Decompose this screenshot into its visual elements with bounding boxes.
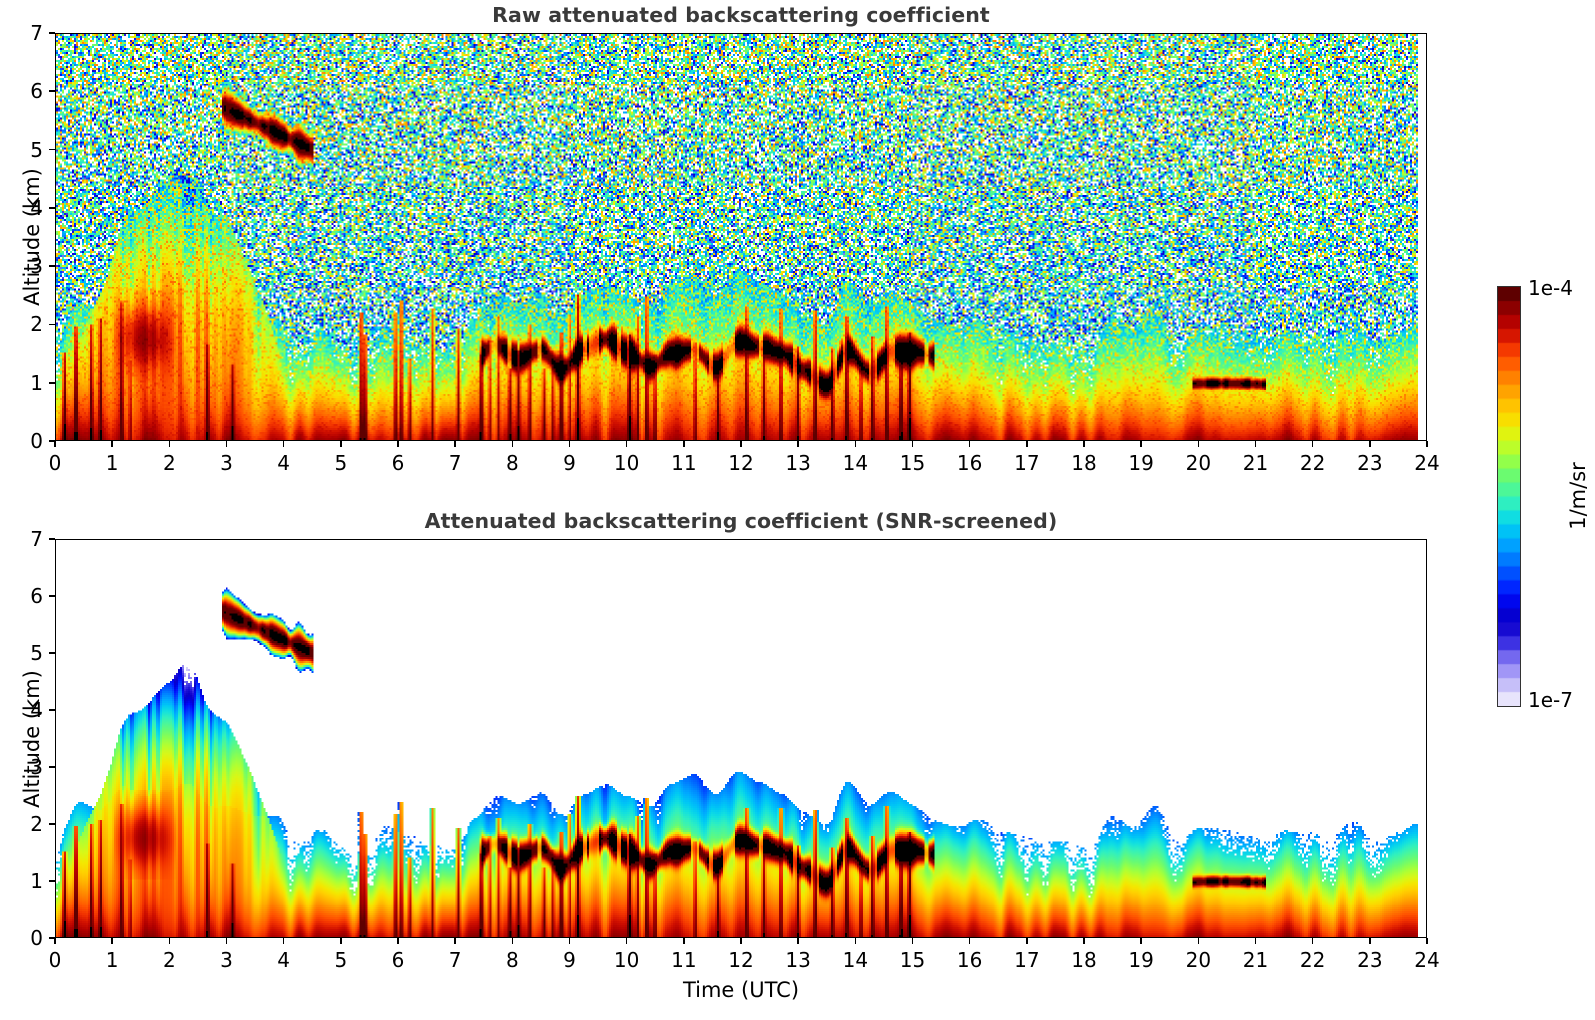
y-tick-raw bbox=[49, 440, 55, 442]
y-tick-label-raw: 7 bbox=[15, 21, 43, 45]
x-tick-raw bbox=[855, 441, 857, 447]
x-tick-label-raw: 10 bbox=[614, 451, 639, 475]
x-tick-raw bbox=[1369, 441, 1371, 447]
x-tick-raw bbox=[797, 441, 799, 447]
x-tick-raw bbox=[340, 441, 342, 447]
x-tick-label-snr: 21 bbox=[1243, 948, 1268, 972]
x-tick-label-raw: 8 bbox=[506, 451, 519, 475]
x-tick-raw bbox=[1140, 441, 1142, 447]
x-tick-label-snr: 24 bbox=[1414, 948, 1439, 972]
y-tick-label-raw: 2 bbox=[15, 312, 43, 336]
x-tick-label-raw: 4 bbox=[277, 451, 290, 475]
panel-title-snr: Attenuated backscattering coefficient (S… bbox=[55, 509, 1427, 533]
x-tick-snr bbox=[226, 938, 228, 944]
x-tick-label-snr: 16 bbox=[957, 948, 982, 972]
x-tick-label-snr: 23 bbox=[1357, 948, 1382, 972]
x-tick-label-raw: 3 bbox=[220, 451, 233, 475]
x-tick-label-snr: 0 bbox=[49, 948, 62, 972]
x-tick-snr bbox=[1312, 938, 1314, 944]
y-tick-label-raw: 1 bbox=[15, 371, 43, 395]
x-tick-label-snr: 18 bbox=[1071, 948, 1096, 972]
x-tick-raw bbox=[912, 441, 914, 447]
x-tick-label-raw: 22 bbox=[1300, 451, 1325, 475]
x-tick-raw bbox=[1083, 441, 1085, 447]
x-tick-snr bbox=[1026, 938, 1028, 944]
x-tick-label-snr: 20 bbox=[1186, 948, 1211, 972]
y-tick-label-raw: 0 bbox=[15, 429, 43, 453]
y-tick-label-snr: 2 bbox=[15, 812, 43, 836]
y-tick-snr bbox=[49, 823, 55, 825]
x-tick-label-snr: 6 bbox=[392, 948, 405, 972]
x-tick-raw bbox=[626, 441, 628, 447]
x-tick-raw bbox=[740, 441, 742, 447]
x-tick-raw bbox=[54, 441, 56, 447]
x-tick-label-raw: 12 bbox=[728, 451, 753, 475]
y-tick-snr bbox=[49, 880, 55, 882]
y-tick-label-raw: 5 bbox=[15, 138, 43, 162]
x-tick-label-snr: 22 bbox=[1300, 948, 1325, 972]
x-tick-label-snr: 3 bbox=[220, 948, 233, 972]
x-tick-snr bbox=[397, 938, 399, 944]
x-tick-snr bbox=[797, 938, 799, 944]
x-tick-snr bbox=[169, 938, 171, 944]
x-tick-snr bbox=[969, 938, 971, 944]
plot-area-raw[interactable] bbox=[55, 33, 1427, 441]
x-tick-raw bbox=[169, 441, 171, 447]
x-tick-label-snr: 4 bbox=[277, 948, 290, 972]
heatmap-snr bbox=[56, 540, 1426, 937]
x-tick-label-raw: 0 bbox=[49, 451, 62, 475]
x-tick-label-raw: 19 bbox=[1128, 451, 1153, 475]
x-tick-label-raw: 7 bbox=[449, 451, 462, 475]
y-tick-raw bbox=[49, 90, 55, 92]
x-tick-raw bbox=[397, 441, 399, 447]
y-tick-snr bbox=[49, 595, 55, 597]
x-tick-snr bbox=[1140, 938, 1142, 944]
x-tick-label-snr: 7 bbox=[449, 948, 462, 972]
x-tick-label-raw: 9 bbox=[563, 451, 576, 475]
x-tick-snr bbox=[912, 938, 914, 944]
x-tick-snr bbox=[1198, 938, 1200, 944]
y-tick-snr bbox=[49, 652, 55, 654]
colorbar[interactable] bbox=[1497, 286, 1521, 707]
x-tick-snr bbox=[512, 938, 514, 944]
y-tick-label-raw: 6 bbox=[15, 79, 43, 103]
x-tick-snr bbox=[1426, 938, 1428, 944]
x-tick-snr bbox=[626, 938, 628, 944]
y-tick-snr bbox=[49, 766, 55, 768]
x-tick-snr bbox=[340, 938, 342, 944]
colorbar-max-label: 1e-4 bbox=[1528, 276, 1573, 300]
y-tick-label-snr: 5 bbox=[15, 641, 43, 665]
y-tick-raw bbox=[49, 265, 55, 267]
colorbar-gradient bbox=[1498, 287, 1520, 706]
y-tick-raw bbox=[49, 207, 55, 209]
y-tick-raw bbox=[49, 32, 55, 34]
figure-canvas: Raw attenuated backscattering coefficien… bbox=[0, 0, 1595, 1020]
x-tick-raw bbox=[512, 441, 514, 447]
colorbar-min-label: 1e-7 bbox=[1528, 688, 1573, 712]
x-tick-raw bbox=[111, 441, 113, 447]
x-tick-raw bbox=[1198, 441, 1200, 447]
y-axis-label-raw: Altitude (km) bbox=[20, 168, 44, 306]
x-tick-label-raw: 24 bbox=[1414, 451, 1439, 475]
x-tick-label-snr: 12 bbox=[728, 948, 753, 972]
x-tick-label-snr: 17 bbox=[1014, 948, 1039, 972]
x-tick-label-snr: 19 bbox=[1128, 948, 1153, 972]
panel-title-raw: Raw attenuated backscattering coefficien… bbox=[55, 3, 1427, 27]
x-tick-snr bbox=[454, 938, 456, 944]
x-tick-label-raw: 1 bbox=[106, 451, 119, 475]
x-tick-label-snr: 13 bbox=[785, 948, 810, 972]
x-tick-label-raw: 18 bbox=[1071, 451, 1096, 475]
x-tick-raw bbox=[454, 441, 456, 447]
x-tick-snr bbox=[283, 938, 285, 944]
x-tick-label-raw: 20 bbox=[1186, 451, 1211, 475]
x-axis-label-snr: Time (UTC) bbox=[683, 978, 799, 1002]
x-tick-label-raw: 14 bbox=[843, 451, 868, 475]
x-tick-label-snr: 5 bbox=[334, 948, 347, 972]
x-tick-snr bbox=[111, 938, 113, 944]
colorbar-unit-label: 1/m/sr bbox=[1566, 462, 1590, 530]
x-tick-label-raw: 15 bbox=[900, 451, 925, 475]
x-tick-snr bbox=[54, 938, 56, 944]
x-tick-label-snr: 14 bbox=[843, 948, 868, 972]
x-tick-raw bbox=[1255, 441, 1257, 447]
x-tick-snr bbox=[1083, 938, 1085, 944]
x-tick-raw bbox=[683, 441, 685, 447]
y-axis-label-snr: Altitude (km) bbox=[20, 670, 44, 808]
x-tick-raw bbox=[969, 441, 971, 447]
x-tick-raw bbox=[1312, 441, 1314, 447]
x-tick-snr bbox=[569, 938, 571, 944]
x-tick-label-snr: 10 bbox=[614, 948, 639, 972]
heatmap-raw bbox=[56, 34, 1426, 440]
x-tick-label-raw: 23 bbox=[1357, 451, 1382, 475]
x-tick-snr bbox=[855, 938, 857, 944]
y-tick-label-snr: 7 bbox=[15, 527, 43, 551]
x-tick-label-snr: 1 bbox=[106, 948, 119, 972]
y-tick-raw bbox=[49, 149, 55, 151]
x-tick-label-raw: 21 bbox=[1243, 451, 1268, 475]
y-tick-label-snr: 0 bbox=[15, 926, 43, 950]
x-tick-snr bbox=[1255, 938, 1257, 944]
x-tick-label-snr: 15 bbox=[900, 948, 925, 972]
x-tick-label-raw: 5 bbox=[334, 451, 347, 475]
x-tick-label-raw: 6 bbox=[392, 451, 405, 475]
y-tick-snr bbox=[49, 538, 55, 540]
x-tick-label-raw: 16 bbox=[957, 451, 982, 475]
x-tick-label-raw: 2 bbox=[163, 451, 176, 475]
x-tick-raw bbox=[1026, 441, 1028, 447]
x-tick-label-raw: 11 bbox=[671, 451, 696, 475]
y-tick-snr bbox=[49, 709, 55, 711]
x-tick-raw bbox=[283, 441, 285, 447]
x-tick-snr bbox=[683, 938, 685, 944]
x-tick-label-snr: 8 bbox=[506, 948, 519, 972]
y-tick-raw bbox=[49, 324, 55, 326]
x-tick-snr bbox=[1369, 938, 1371, 944]
y-tick-label-snr: 1 bbox=[15, 869, 43, 893]
y-tick-label-snr: 6 bbox=[15, 584, 43, 608]
x-tick-raw bbox=[226, 441, 228, 447]
x-tick-label-snr: 9 bbox=[563, 948, 576, 972]
x-tick-label-raw: 17 bbox=[1014, 451, 1039, 475]
y-tick-snr bbox=[49, 937, 55, 939]
x-tick-snr bbox=[740, 938, 742, 944]
y-tick-raw bbox=[49, 382, 55, 384]
x-tick-raw bbox=[1426, 441, 1428, 447]
plot-area-snr[interactable] bbox=[55, 539, 1427, 938]
x-tick-label-raw: 13 bbox=[785, 451, 810, 475]
x-tick-label-snr: 11 bbox=[671, 948, 696, 972]
x-tick-label-snr: 2 bbox=[163, 948, 176, 972]
x-tick-raw bbox=[569, 441, 571, 447]
